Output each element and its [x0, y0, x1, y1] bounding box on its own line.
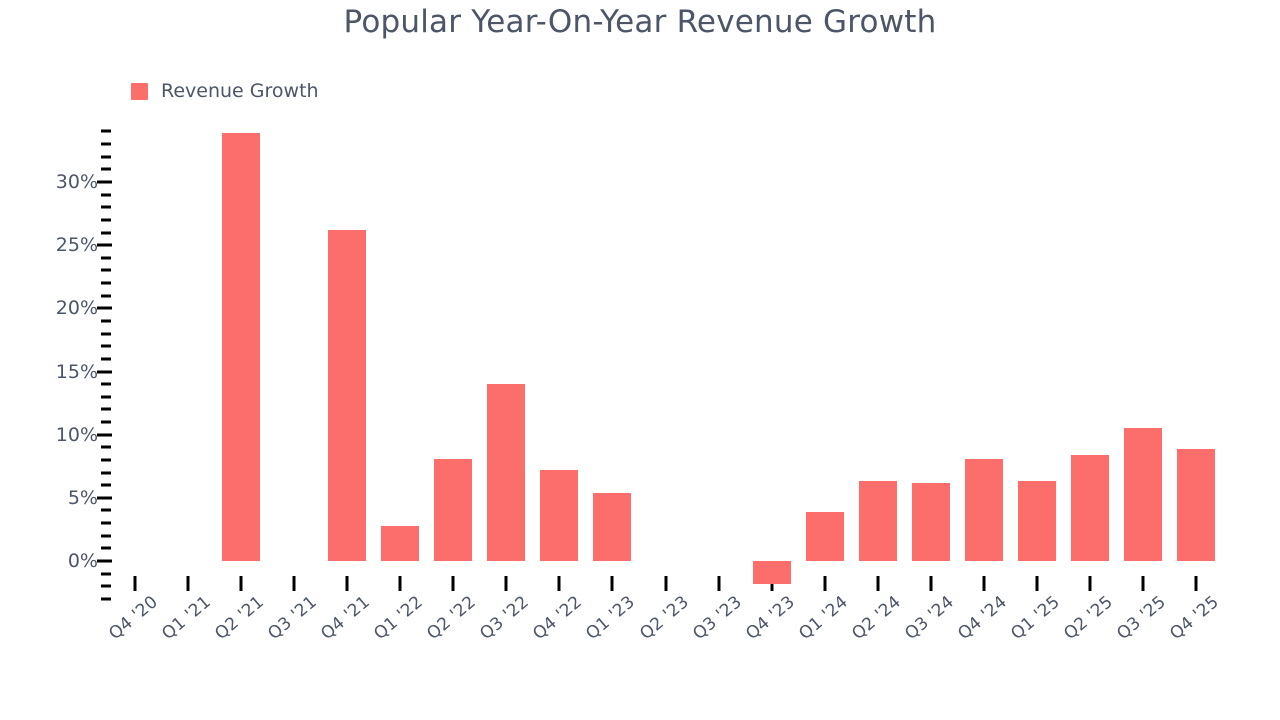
y-axis-minor-tick — [101, 256, 111, 259]
y-axis-minor-tick — [101, 484, 111, 487]
x-axis-tick-label: Q4 '21 — [317, 592, 374, 644]
bar-q224[interactable] — [859, 481, 897, 561]
x-axis-tick-label: Q4 '23 — [742, 592, 799, 644]
y-axis-minor-tick — [101, 193, 111, 196]
y-axis-minor-tick — [101, 408, 111, 411]
y-axis-minor-tick — [101, 130, 111, 133]
bar-q222[interactable] — [434, 459, 472, 561]
y-axis-minor-tick — [101, 332, 111, 335]
x-axis-tick — [1035, 576, 1038, 591]
bar-q425[interactable] — [1177, 449, 1215, 561]
bar-q221[interactable] — [222, 133, 260, 561]
x-axis-tick-label: Q3 '25 — [1113, 592, 1170, 644]
x-axis-tick-label: Q4 '22 — [530, 592, 587, 644]
x-axis-tick-label: Q3 '23 — [689, 592, 746, 644]
bar-q322[interactable] — [487, 384, 525, 561]
bar-q422[interactable] — [540, 470, 578, 561]
y-axis-tick-label: 20% — [38, 297, 98, 319]
x-axis-tick-label: Q3 '21 — [264, 592, 321, 644]
y-axis-minor-tick — [101, 522, 111, 525]
bar-q421[interactable] — [328, 230, 366, 561]
y-axis-minor-tick — [101, 155, 111, 158]
x-axis-tick — [134, 576, 137, 591]
y-axis-tick-label: 30% — [38, 171, 98, 193]
y-axis-minor-tick — [101, 357, 111, 360]
x-axis-tick — [346, 576, 349, 591]
x-axis-tick — [505, 576, 508, 591]
y-axis-major-tick — [97, 244, 112, 247]
x-axis-tick-label: Q2 '24 — [848, 592, 905, 644]
x-axis-tick — [664, 576, 667, 591]
bar-q123[interactable] — [593, 493, 631, 561]
y-axis-minor-tick — [101, 597, 111, 600]
y-axis-minor-tick — [101, 206, 111, 209]
y-axis-minor-tick — [101, 282, 111, 285]
bar-q225[interactable] — [1071, 455, 1109, 561]
y-axis-minor-tick — [101, 143, 111, 146]
y-axis-minor-tick — [101, 168, 111, 171]
y-axis-minor-tick — [101, 471, 111, 474]
y-axis-minor-tick — [101, 383, 111, 386]
y-axis-minor-tick — [101, 319, 111, 322]
bar-q324[interactable] — [912, 483, 950, 561]
x-axis-tick — [452, 576, 455, 591]
x-axis-tick — [929, 576, 932, 591]
y-axis-minor-tick — [101, 572, 111, 575]
y-axis-minor-tick — [101, 547, 111, 550]
bar-q325[interactable] — [1124, 428, 1162, 561]
x-axis-tick-label: Q1 '24 — [795, 592, 852, 644]
y-axis-minor-tick — [101, 585, 111, 588]
y-axis-tick-label: 25% — [38, 234, 98, 256]
y-axis-major-tick — [97, 181, 112, 184]
y-axis-minor-tick — [101, 231, 111, 234]
x-axis-tick-label: Q3 '24 — [901, 592, 958, 644]
x-axis-tick — [1141, 576, 1144, 591]
x-axis-tick-label: Q3 '22 — [477, 592, 534, 644]
x-axis-tick-label: Q4 '20 — [105, 592, 162, 644]
x-axis-tick-label: Q2 '21 — [211, 592, 268, 644]
y-axis-minor-tick — [101, 534, 111, 537]
x-axis-tick — [399, 576, 402, 591]
y-axis-minor-tick — [101, 395, 111, 398]
y-axis-minor-tick — [101, 421, 111, 424]
y-axis-major-tick — [97, 496, 112, 499]
x-axis-tick-label: Q4 '25 — [1166, 592, 1223, 644]
x-axis-tick — [611, 576, 614, 591]
y-axis-major-tick — [97, 307, 112, 310]
y-axis-minor-tick — [101, 509, 111, 512]
x-axis-tick — [876, 576, 879, 591]
y-axis-minor-tick — [101, 446, 111, 449]
x-axis-tick — [187, 576, 190, 591]
y-axis-minor-tick — [101, 458, 111, 461]
y-axis-minor-tick — [101, 294, 111, 297]
x-axis-tick-label: Q1 '21 — [158, 592, 215, 644]
x-axis-tick-label: Q2 '23 — [636, 592, 693, 644]
y-axis-tick-label: 10% — [38, 424, 98, 446]
x-axis-tick-label: Q1 '25 — [1007, 592, 1064, 644]
bar-q424[interactable] — [965, 459, 1003, 561]
bar-q124[interactable] — [806, 512, 844, 561]
x-axis-tick — [558, 576, 561, 591]
x-axis-tick-label: Q1 '22 — [371, 592, 428, 644]
x-axis-tick — [1088, 576, 1091, 591]
y-axis-minor-tick — [101, 218, 111, 221]
x-axis-tick-label: Q1 '23 — [583, 592, 640, 644]
x-axis-tick — [823, 576, 826, 591]
bar-chart-plot-area: 0%5%10%15%20%25%30%Q4 '20Q1 '21Q2 '21Q3 … — [0, 0, 1280, 720]
y-axis-tick-label: 5% — [38, 487, 98, 509]
x-axis-tick — [1195, 576, 1198, 591]
bar-q122[interactable] — [381, 526, 419, 561]
x-axis-tick-label: Q2 '22 — [424, 592, 481, 644]
x-axis-tick — [240, 576, 243, 591]
y-axis-minor-tick — [101, 345, 111, 348]
y-axis-minor-tick — [101, 269, 111, 272]
y-axis-tick-label: 0% — [38, 550, 98, 572]
y-axis-major-tick — [97, 370, 112, 373]
bar-q125[interactable] — [1018, 481, 1056, 561]
x-axis-tick — [717, 576, 720, 591]
y-axis-major-tick — [97, 560, 112, 563]
x-axis-tick-label: Q4 '24 — [954, 592, 1011, 644]
y-axis-major-tick — [97, 433, 112, 436]
bar-q423[interactable] — [753, 561, 791, 584]
x-axis-tick — [982, 576, 985, 591]
y-axis-tick-label: 15% — [38, 361, 98, 383]
x-axis-tick-label: Q2 '25 — [1060, 592, 1117, 644]
x-axis-tick — [293, 576, 296, 591]
